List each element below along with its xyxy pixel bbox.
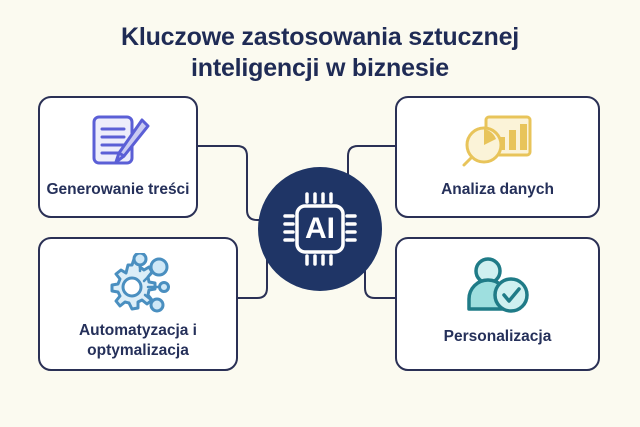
card-label-line-1: Automatyzacja i bbox=[79, 322, 197, 339]
card-label-content-generation: Generowanie treści bbox=[40, 180, 196, 200]
infographic-canvas: Kluczowe zastosowania sztucznej intelige… bbox=[0, 0, 640, 427]
document-pen-icon bbox=[40, 110, 196, 172]
card-label-data-analysis: Analiza danych bbox=[397, 180, 598, 200]
card-automation-optimization[interactable]: Automatyzacja i optymalizacja bbox=[38, 237, 238, 371]
user-check-icon bbox=[397, 253, 598, 319]
ai-hub-label: AI bbox=[258, 167, 382, 291]
ai-hub-node[interactable]: AI bbox=[258, 167, 382, 291]
magnifier-bar-chart-icon bbox=[397, 110, 598, 172]
page-title-line-1: Kluczowe zastosowania sztucznej bbox=[0, 22, 640, 53]
card-personalization[interactable]: Personalizacja bbox=[395, 237, 600, 371]
card-label-line-2: optymalizacja bbox=[87, 342, 189, 359]
card-label-personalization: Personalizacja bbox=[397, 327, 598, 347]
page-title: Kluczowe zastosowania sztucznej intelige… bbox=[0, 22, 640, 84]
card-content-generation[interactable]: Generowanie treści bbox=[38, 96, 198, 218]
page-title-line-2: inteligencji w biznesie bbox=[0, 53, 640, 84]
card-data-analysis[interactable]: Analiza danych bbox=[395, 96, 600, 218]
gear-network-icon bbox=[40, 251, 236, 317]
card-label-automation-optimization: Automatyzacja i optymalizacja bbox=[40, 321, 236, 361]
